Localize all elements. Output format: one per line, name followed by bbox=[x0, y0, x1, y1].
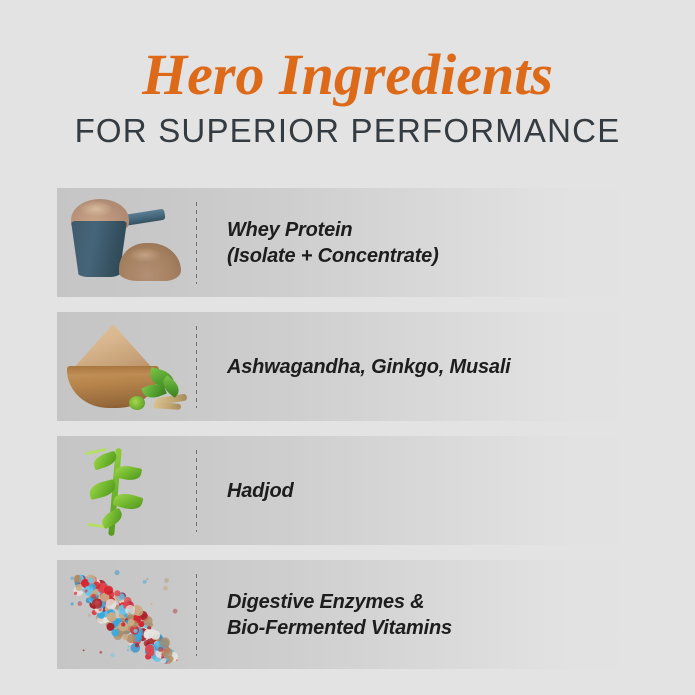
flower-sprig-shape bbox=[129, 396, 145, 410]
ingredient-card-ashwagandha[interactable]: Ashwagandha, Ginkgo, Musali bbox=[57, 312, 637, 421]
molecule-svg bbox=[57, 560, 196, 669]
powder-mound-shape bbox=[73, 324, 153, 372]
ingredient-label: Ashwagandha, Ginkgo, Musali bbox=[197, 354, 637, 380]
ingredient-label: Whey Protein (Isolate + Concentrate) bbox=[197, 217, 637, 269]
ingredient-list: Whey Protein (Isolate + Concentrate) Ash… bbox=[57, 188, 637, 684]
molecule-cluster-icon bbox=[57, 560, 196, 669]
root-shape bbox=[153, 402, 181, 410]
page-header: Hero Ingredients FOR SUPERIOR PERFORMANC… bbox=[0, 44, 695, 150]
hero-ingredients-page: Hero Ingredients FOR SUPERIOR PERFORMANC… bbox=[0, 0, 695, 695]
powder-pile-shape bbox=[119, 243, 181, 281]
protein-scoop-icon bbox=[57, 188, 196, 297]
ingredient-card-digestive-enzymes[interactable]: Digestive Enzymes & Bio-Fermented Vitami… bbox=[57, 560, 637, 669]
hadjod-vine-icon bbox=[57, 436, 196, 545]
page-subtitle: FOR SUPERIOR PERFORMANCE bbox=[0, 112, 695, 150]
ingredient-label: Hadjod bbox=[197, 478, 637, 504]
ingredient-label: Digestive Enzymes & Bio-Fermented Vitami… bbox=[197, 589, 637, 641]
page-title: Hero Ingredients bbox=[0, 44, 695, 106]
ingredient-card-whey-protein[interactable]: Whey Protein (Isolate + Concentrate) bbox=[57, 188, 637, 297]
herb-bowl-icon bbox=[57, 312, 196, 421]
ingredient-card-hadjod[interactable]: Hadjod bbox=[57, 436, 637, 545]
